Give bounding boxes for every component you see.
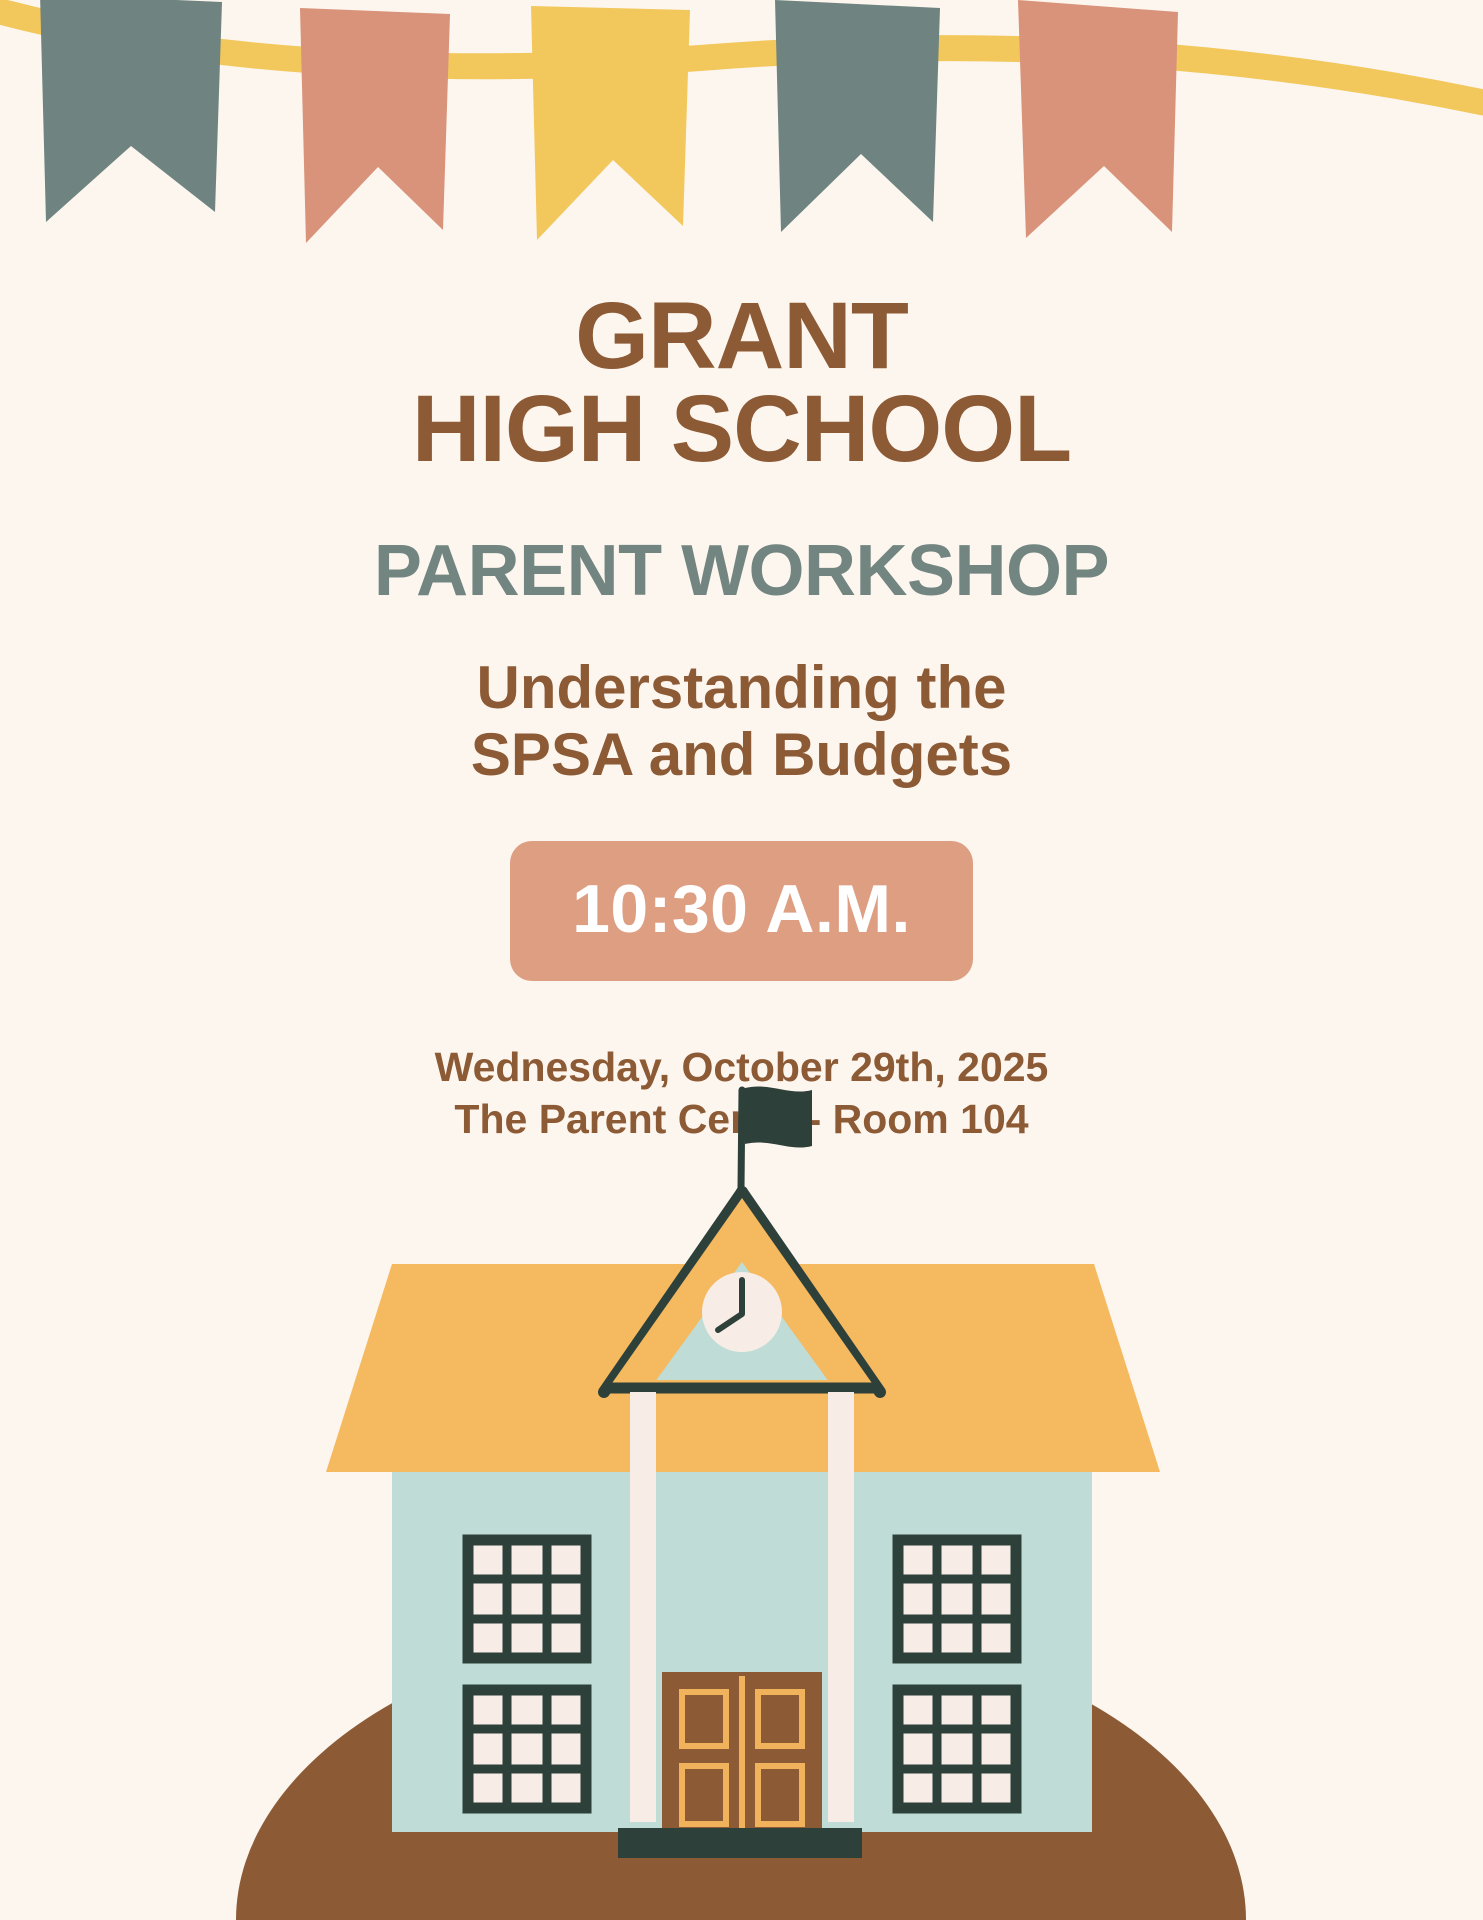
- poster-text-block: GRANT HIGH SCHOOL PARENT WORKSHOP Unders…: [0, 290, 1483, 1187]
- time-badge-container: 10:30 A.M.: [0, 841, 1483, 981]
- bunting-flag-4: [775, 0, 940, 232]
- event-type-heading: PARENT WORKSHOP: [0, 530, 1483, 612]
- window-lower-right: [898, 1690, 1016, 1808]
- bunting-flag-1: [40, 0, 222, 222]
- window-upper-right: [898, 1540, 1016, 1658]
- school-building-illustration: [0, 1080, 1483, 1920]
- bunting-decoration: [0, 0, 1483, 300]
- window-lower-left: [468, 1690, 586, 1808]
- bunting-flag-2: [300, 8, 450, 243]
- event-time-badge: 10:30 A.M.: [510, 841, 973, 981]
- bunting-flag-5: [1018, 0, 1178, 238]
- entrance-step: [618, 1828, 862, 1858]
- flyer-poster: GRANT HIGH SCHOOL PARENT WORKSHOP Unders…: [0, 0, 1483, 1920]
- entrance-door: [662, 1672, 822, 1832]
- workshop-subtitle: Understanding the SPSA and Budgets: [0, 654, 1483, 788]
- bunting-string: [0, 6, 1483, 106]
- flagpole: [741, 1090, 742, 1188]
- bunting-flag-3: [531, 6, 690, 240]
- school-name-heading: GRANT HIGH SCHOOL: [0, 290, 1483, 476]
- column-left: [630, 1392, 656, 1822]
- window-upper-left: [468, 1540, 586, 1658]
- school-flag: [745, 1086, 812, 1147]
- column-right: [828, 1392, 854, 1822]
